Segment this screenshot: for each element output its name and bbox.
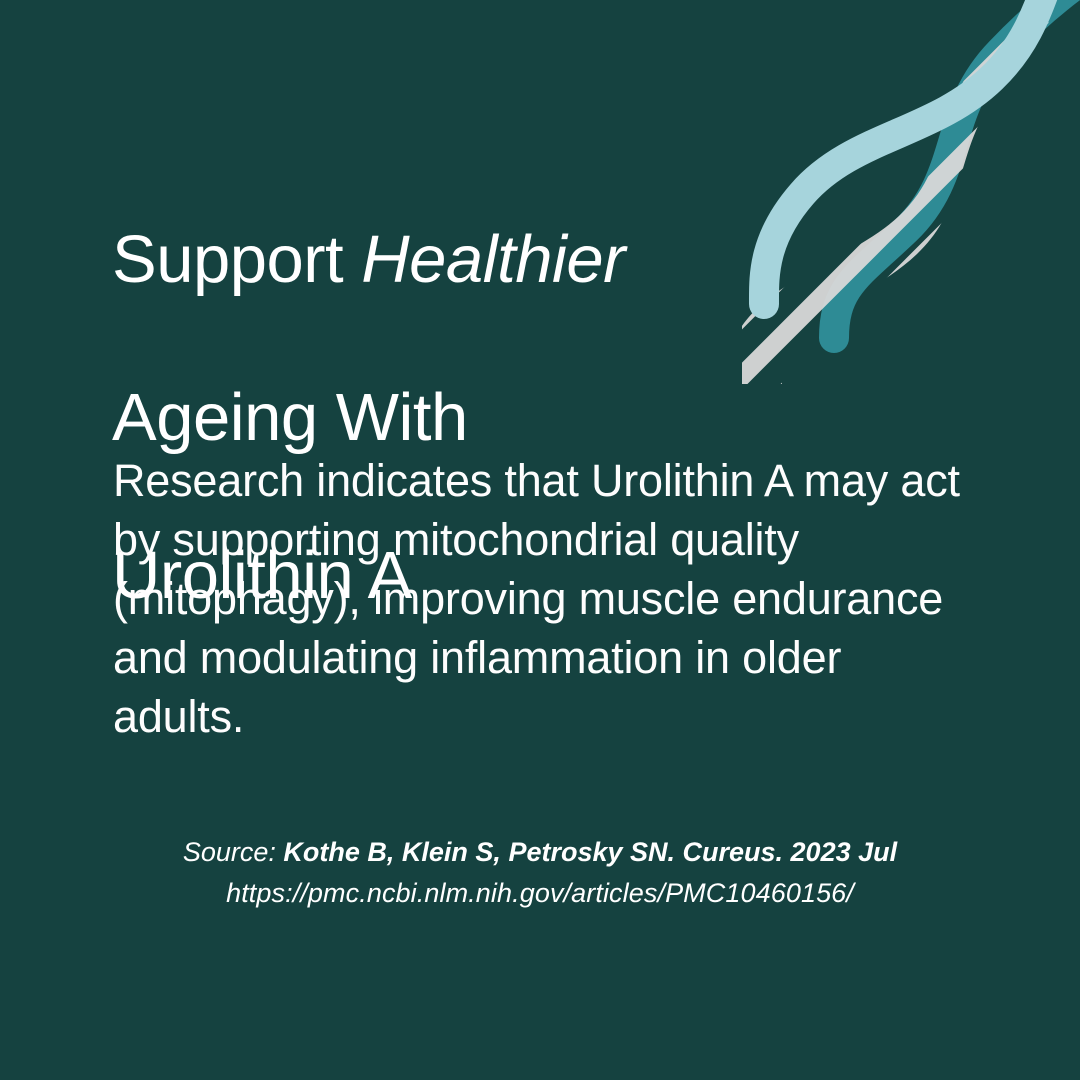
citation-url[interactable]: https://pmc.ncbi.nlm.nih.gov/articles/PM… xyxy=(226,878,854,908)
headline-line-2: Ageing With xyxy=(112,378,812,457)
headline-emphasis: Healthier xyxy=(361,222,625,297)
headline-text-a: Support xyxy=(112,222,361,297)
citation-label: Source: xyxy=(183,837,284,867)
citation-reference: Kothe B, Klein S, Petrosky SN. Cureus. 2… xyxy=(283,837,897,867)
citation-url-line: https://pmc.ncbi.nlm.nih.gov/articles/PM… xyxy=(0,873,1080,914)
body-paragraph: Research indicates that Urolithin A may … xyxy=(113,451,973,746)
source-citation: Source: Kothe B, Klein S, Petrosky SN. C… xyxy=(0,832,1080,914)
promo-card: Support Healthier Ageing With Urolithin … xyxy=(0,0,1080,1080)
citation-reference-line: Source: Kothe B, Klein S, Petrosky SN. C… xyxy=(0,832,1080,873)
dna-strand-back xyxy=(834,0,1080,338)
headline-line-1: Support Healthier xyxy=(112,220,812,299)
